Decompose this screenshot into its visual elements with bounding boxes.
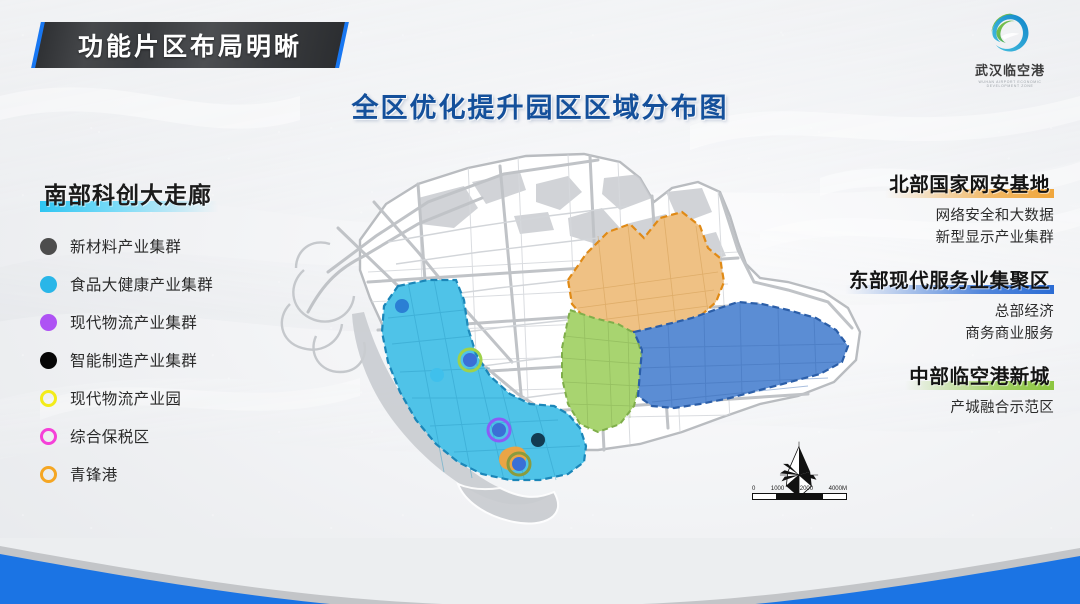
map-scale-bar: 0100020004000M bbox=[752, 486, 847, 500]
swoosh-circle-logo-icon bbox=[989, 12, 1031, 54]
legend-item-2[interactable]: 食品大健康产业集群 bbox=[40, 265, 290, 303]
map-river-outline bbox=[458, 484, 558, 524]
legend-item-3[interactable]: 现代物流产业集群 bbox=[40, 303, 290, 341]
legend-item-7[interactable]: 青锋港 bbox=[40, 455, 290, 493]
zone-block-heading: 中部临空港新城 bbox=[905, 360, 1054, 390]
scale-tick-label: 2000 bbox=[800, 486, 813, 492]
legend-panel: 南部科创大走廊 新材料产业集群食品大健康产业集群现代物流产业集群智能制造产业集群… bbox=[40, 176, 290, 493]
legend-item-label: 现代物流产业集群 bbox=[70, 311, 197, 333]
legend-dot-icon bbox=[40, 314, 57, 331]
scale-tick-label: 0 bbox=[752, 486, 755, 492]
legend-heading: 南部科创大走廊 bbox=[40, 176, 218, 211]
zone-block-heading-text: 中部临空港新城 bbox=[909, 365, 1050, 388]
legend-ring-icon bbox=[40, 390, 57, 407]
marker-smart-manufacture[interactable] bbox=[531, 433, 545, 447]
logo-name-text: 武汉临空港 bbox=[964, 60, 1056, 79]
legend-item-label: 综合保税区 bbox=[70, 425, 150, 447]
legend-item-label: 智能制造产业集群 bbox=[70, 349, 197, 371]
legend-ring-icon bbox=[40, 428, 57, 445]
legend-item-label: 食品大健康产业集群 bbox=[70, 273, 213, 295]
bottom-decoration-bar bbox=[0, 538, 1080, 604]
zone-block-heading: 东部现代服务业集聚区 bbox=[845, 264, 1054, 294]
marker-food-health[interactable] bbox=[430, 368, 444, 382]
legend-item-5[interactable]: 现代物流产业园 bbox=[40, 379, 290, 417]
brand-logo: 武汉临空港 WUHAN AIRPORT ECONOMIC DEVELOPMENT… bbox=[964, 12, 1056, 82]
legend-item-4[interactable]: 智能制造产业集群 bbox=[40, 341, 290, 379]
legend-item-label: 新材料产业集群 bbox=[70, 235, 181, 257]
banner-title-text: 功能片区布局明晰 bbox=[40, 22, 340, 68]
scale-tick-label: 1000 bbox=[771, 486, 784, 492]
legend-ring-icon bbox=[40, 466, 57, 483]
zone-block-heading-text: 东部现代服务业集聚区 bbox=[849, 269, 1050, 292]
zone-block-heading: 北部国家网安基地 bbox=[885, 168, 1054, 198]
section-title-banner: 功能片区布局明晰 bbox=[40, 22, 340, 68]
legend-item-6[interactable]: 综合保税区 bbox=[40, 417, 290, 455]
scale-bar-segments bbox=[752, 493, 847, 500]
zone-block-heading-text: 北部国家网安基地 bbox=[889, 173, 1050, 196]
legend-item-1[interactable]: 新材料产业集群 bbox=[40, 227, 290, 265]
legend-item-label: 现代物流产业园 bbox=[70, 387, 181, 409]
legend-dot-icon bbox=[40, 238, 57, 255]
map-main-title: 全区优化提升园区区域分布图 bbox=[0, 86, 1080, 125]
legend-heading-text: 南部科创大走廊 bbox=[44, 183, 212, 209]
legend-dot-icon bbox=[40, 276, 57, 293]
legend-dot-icon bbox=[40, 352, 57, 369]
scale-tick-label: 4000M bbox=[829, 486, 847, 492]
legend-item-label: 青锋港 bbox=[70, 463, 118, 485]
slide-stage: 功能片区布局明晰 武汉临空港 WUHAN AIRPORT ECONOMIC DE… bbox=[0, 0, 1080, 604]
marker-new-material[interactable] bbox=[395, 299, 409, 313]
